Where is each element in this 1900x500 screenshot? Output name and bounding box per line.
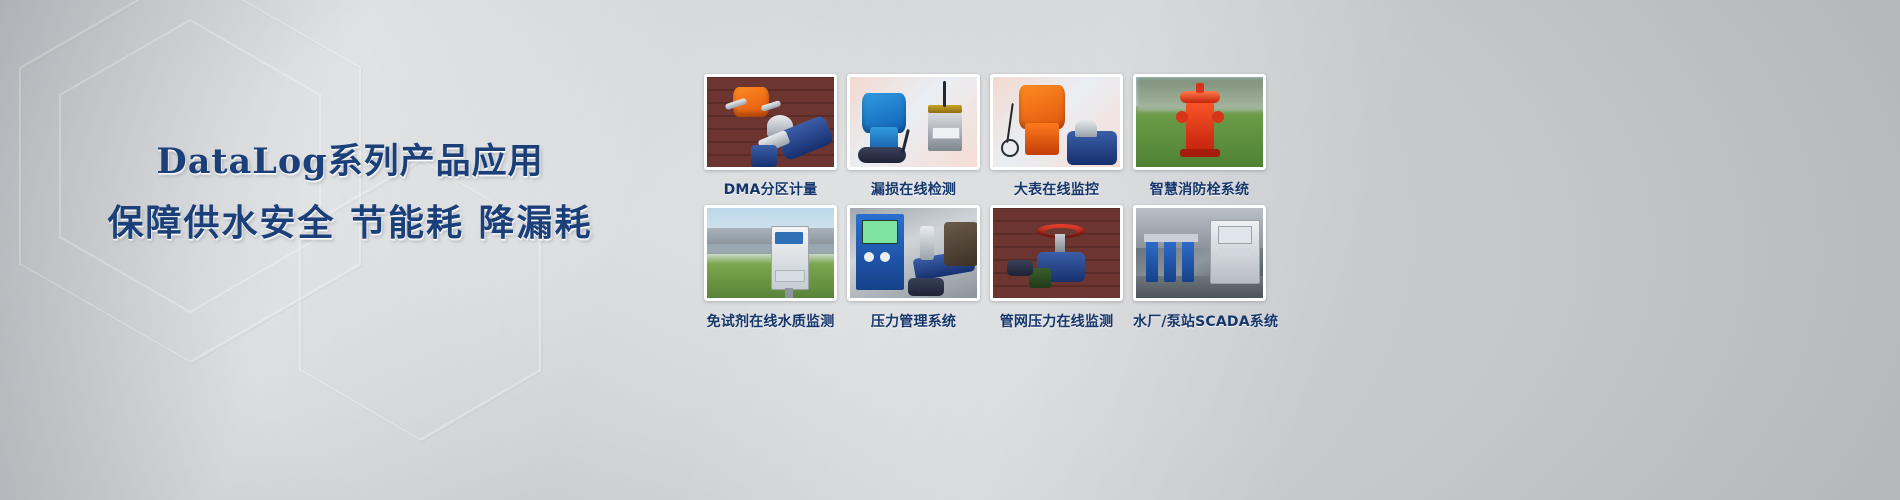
scene-meter-studio [993, 77, 1120, 167]
caption-pressure-management: 压力管理系统 [847, 311, 980, 331]
promo-banner: DataLog系列产品应用 保障供水安全 节能耗 降漏耗 DMA分区计量 [0, 0, 1900, 500]
thumbnail-smart-hydrant[interactable] [1133, 74, 1266, 170]
thumbnail-large-meter[interactable] [990, 74, 1123, 170]
caption-large-meter: 大表在线监控 [990, 179, 1123, 199]
caption-scada: 水厂/泵站SCADA系统 [1133, 311, 1266, 331]
grid-item-scada[interactable]: 水厂/泵站SCADA系统 [1133, 205, 1266, 331]
thumbnail-scada[interactable] [1133, 205, 1266, 301]
caption-dma-metering: DMA分区计量 [704, 179, 837, 199]
hexagon-watermark [0, 0, 650, 500]
scene-pressure-cabinet [850, 208, 977, 298]
grid-item-smart-hydrant[interactable]: 智慧消防栓系统 [1133, 74, 1266, 199]
thumbnail-network-pressure[interactable] [990, 205, 1123, 301]
caption-smart-hydrant: 智慧消防栓系统 [1133, 179, 1266, 199]
caption-network-pressure: 管网压力在线监测 [990, 311, 1123, 331]
thumbnail-leak-detection[interactable] [847, 74, 980, 170]
grid-item-leak-detection[interactable]: 漏损在线检测 [847, 74, 980, 199]
scene-product-studio [850, 77, 977, 167]
caption-leak-detection: 漏损在线检测 [847, 179, 980, 199]
grid-item-pressure-management[interactable]: 压力管理系统 [847, 205, 980, 331]
thumbnail-water-quality[interactable] [704, 205, 837, 301]
thumbnail-dma-metering[interactable] [704, 74, 837, 170]
grid-item-network-pressure[interactable]: 管网压力在线监测 [990, 205, 1123, 331]
headline-line-2: 保障供水安全 节能耗 降漏耗 [0, 202, 700, 246]
scene-riverside-station [707, 208, 834, 298]
grid-item-large-meter[interactable]: 大表在线监控 [990, 74, 1123, 199]
scene-brick-pavement [707, 77, 834, 167]
scene-hydrant-lawn [1136, 77, 1263, 167]
grid-item-water-quality[interactable]: 免试剂在线水质监测 [704, 205, 837, 331]
application-grid: DMA分区计量 漏损在线检测 [704, 74, 1284, 331]
grid-item-dma-metering[interactable]: DMA分区计量 [704, 74, 837, 199]
headline-block: DataLog系列产品应用 保障供水安全 节能耗 降漏耗 [0, 140, 700, 246]
thumbnail-pressure-management[interactable] [847, 205, 980, 301]
caption-water-quality: 免试剂在线水质监测 [704, 311, 837, 331]
scene-pump-station [1136, 208, 1263, 298]
headline-line-1: DataLog系列产品应用 [0, 140, 700, 184]
scene-valve-pavement [993, 208, 1120, 298]
